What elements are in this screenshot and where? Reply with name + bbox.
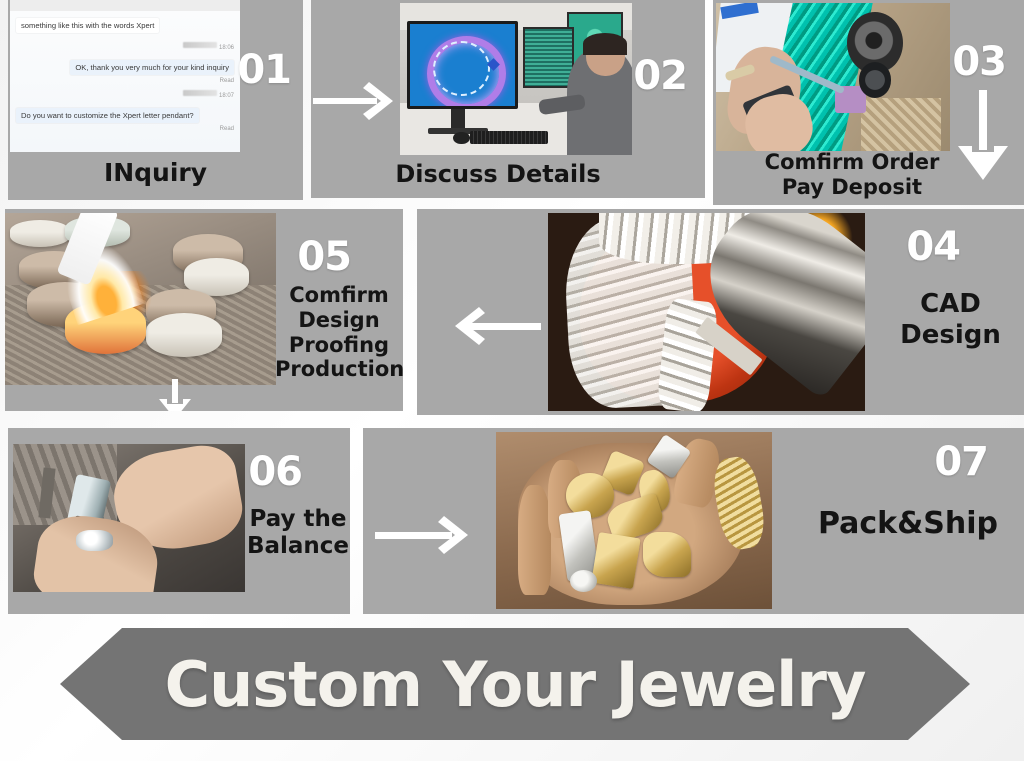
chat-timestamp-row: 18:06	[16, 36, 234, 54]
redacted-date	[183, 90, 217, 96]
step-02-photo	[400, 3, 632, 155]
step-label-03-line1: Comfirm Order	[741, 150, 963, 175]
step-card-03: 03 Comfirm Order Pay Deposit	[713, 0, 1024, 205]
step-label-06-line1: Pay the	[246, 506, 350, 533]
step-label-04-line1: CAD	[877, 289, 1024, 320]
step-label-05-line3: Proofing	[275, 333, 403, 358]
cad-wax-carving-scene	[548, 213, 865, 411]
step-number-07: 07	[934, 442, 988, 482]
arrow-right-icon	[372, 512, 478, 558]
step-number-05: 05	[297, 237, 351, 277]
casting-torch-scene	[5, 213, 276, 385]
step-label-05-line4: Production	[275, 357, 403, 382]
step-card-07: 07 Pack&Ship	[363, 428, 1024, 614]
chat-timestamp-row: 18:07	[16, 84, 234, 102]
banner-title: Custom Your Jewelry	[165, 648, 866, 721]
chat-timestamp: 18:07	[219, 93, 234, 99]
step-01-photo: something like this with the words Xpert…	[10, 0, 240, 152]
step-label-01: INquiry	[8, 158, 303, 188]
step-card-06: 06 Pay the Balance	[8, 428, 350, 614]
step-label-07: Pack&Ship	[803, 506, 1013, 541]
step-label-05-line1: Comfirm	[275, 283, 403, 308]
step-card-01: something like this with the words Xpert…	[8, 0, 303, 200]
process-infographic: something like this with the words Xpert…	[0, 0, 1024, 761]
step-label-04-line2: Design	[877, 320, 1024, 351]
step-number-02: 02	[633, 56, 687, 96]
arrow-down-icon	[153, 379, 197, 411]
chat-bubble-text: something like this with the words Xpert	[16, 18, 159, 33]
wax-stone-setting-scene	[716, 3, 950, 151]
chat-message: OK, thank you very much for your kind in…	[16, 57, 234, 75]
step-06-photo	[13, 444, 245, 592]
step-07-photo	[496, 432, 772, 609]
step-card-04: 04 CAD Design	[417, 209, 1024, 415]
arrow-right-icon	[311, 78, 401, 124]
gold-pendants-in-hand-scene	[496, 432, 772, 609]
step-03-photo	[716, 3, 950, 151]
step-label-06-line2: Balance	[246, 533, 350, 560]
step-label-05-line2: Design	[275, 308, 403, 333]
chat-bubble-text: Do you want to customize the Xpert lette…	[16, 108, 199, 123]
step-number-03: 03	[952, 42, 1006, 82]
step-card-02: 02 Discuss Details	[311, 0, 705, 198]
chat-message: something like this with the words Xpert	[16, 15, 234, 33]
polishing-scene	[13, 444, 245, 592]
step-04-photo	[548, 213, 865, 411]
step-number-04: 04	[906, 227, 960, 267]
step-label-06: Pay the Balance	[246, 506, 350, 560]
chat-bubble-text: OK, thank you very much for your kind in…	[70, 60, 234, 75]
step-label-02: Discuss Details	[351, 160, 645, 188]
cad-workstation-scene	[400, 3, 632, 155]
step-label-03: Comfirm Order Pay Deposit	[741, 150, 963, 200]
chat-message: Do you want to customize the Xpert lette…	[16, 105, 234, 123]
chat-timestamp: 18:06	[219, 45, 234, 51]
step-number-06: 06	[248, 452, 302, 492]
redacted-date	[183, 42, 217, 48]
step-05-photo	[5, 213, 276, 385]
chat-read-status: Read	[16, 126, 234, 132]
chat-message-list: something like this with the words Xpert…	[10, 11, 240, 152]
chat-screenshot: something like this with the words Xpert…	[10, 0, 240, 152]
banner-custom-your-jewelry: Custom Your Jewelry	[60, 628, 970, 740]
step-number-01: 01	[237, 50, 291, 90]
step-card-05: 05 Comfirm Design Proofing Production	[5, 209, 403, 411]
step-label-04: CAD Design	[877, 289, 1024, 350]
step-label-05: Comfirm Design Proofing Production	[275, 283, 403, 382]
arrow-left-icon	[435, 303, 545, 349]
step-label-03-line2: Pay Deposit	[741, 175, 963, 200]
